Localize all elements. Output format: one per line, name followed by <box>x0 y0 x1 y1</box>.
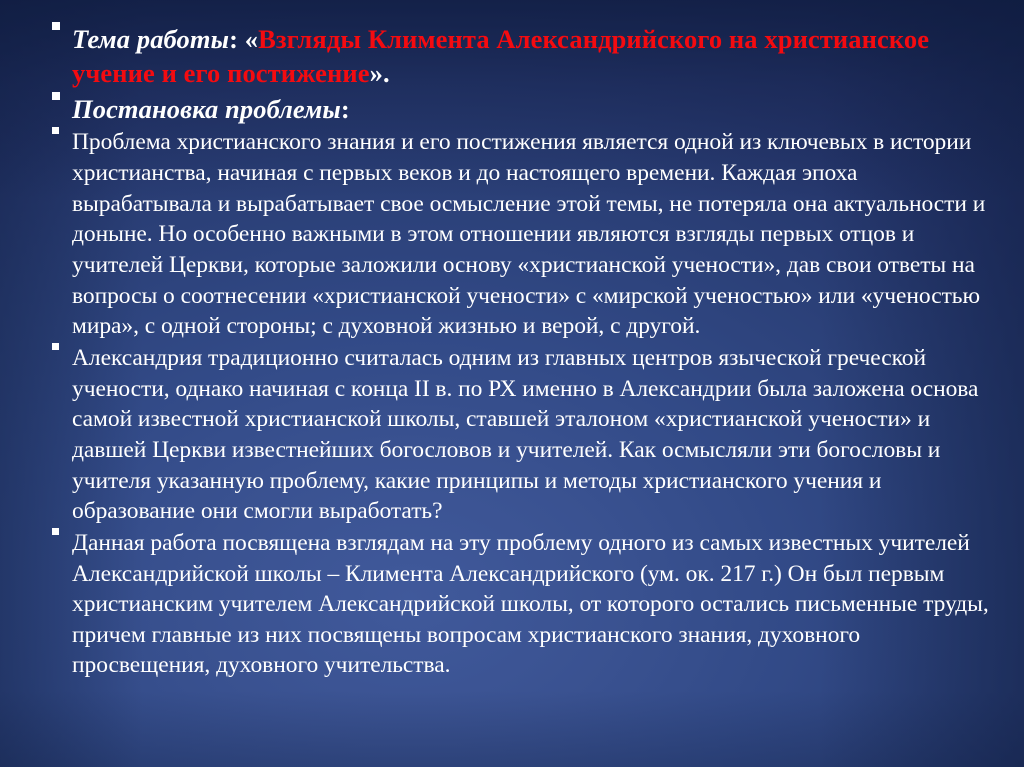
bullet-item-alexandria-context: Александрия традиционно считалась одним … <box>46 343 1002 527</box>
topic-period: . <box>383 58 390 88</box>
slide-content: Тема работы: «Взгляды Климента Александр… <box>0 0 1024 767</box>
paragraph-text: Проблема христианского знания и его пост… <box>72 129 985 339</box>
problem-heading-label: Постановка проблемы <box>72 94 341 124</box>
bullet-item-problem-statement: Проблема христианского знания и его пост… <box>46 127 1002 342</box>
quote-close: » <box>370 58 383 88</box>
presentation-slide: Тема работы: «Взгляды Климента Александр… <box>0 0 1024 767</box>
square-bullet-icon <box>52 528 59 535</box>
paragraph-text: Данная работа посвящена взглядам на эту … <box>72 530 989 679</box>
quote-open: « <box>245 24 258 54</box>
paragraph-text: Александрия традиционно считалась одним … <box>72 345 978 524</box>
problem-heading-colon: : <box>341 94 350 124</box>
bullet-list: Тема работы: «Взгляды Климента Александр… <box>46 22 1002 681</box>
square-bullet-icon <box>52 22 60 30</box>
square-bullet-icon <box>52 92 60 100</box>
bullet-item-topic: Тема работы: «Взгляды Климента Александр… <box>46 22 1002 91</box>
topic-label: Тема работы <box>72 24 229 54</box>
bullet-item-work-scope: Данная работа посвящена взглядам на эту … <box>46 528 1002 681</box>
bullet-item-problem-heading: Постановка проблемы: <box>46 92 1002 126</box>
topic-colon: : <box>229 24 245 54</box>
square-bullet-icon <box>52 127 59 134</box>
square-bullet-icon <box>52 343 59 350</box>
